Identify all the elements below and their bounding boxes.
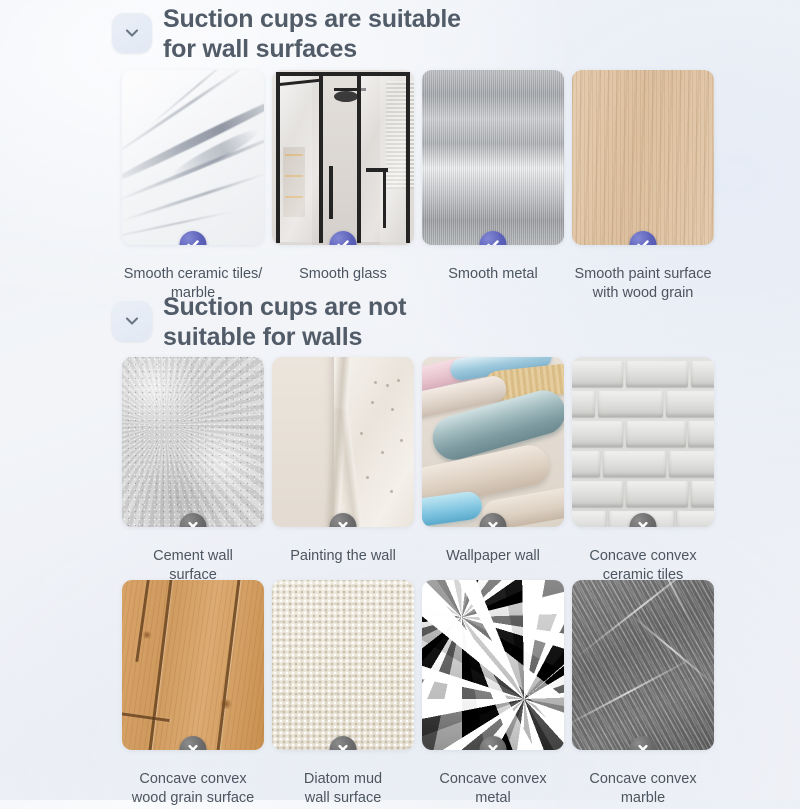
surface-caption: Concave convex wood grain surface	[122, 770, 264, 809]
texture-brushed-metal	[422, 70, 564, 245]
x-icon	[186, 742, 201, 750]
texture-wood-planks	[122, 580, 264, 750]
tile-row-not-suitable-a: Cement wall surface	[122, 357, 714, 586]
texture-light-wood-grain	[572, 70, 714, 245]
surface-cell[interactable]: Smooth paint surface with wood grain	[572, 70, 714, 304]
section-header-suitable: Suction cups are suitable for wall surfa…	[112, 4, 461, 64]
texture-white-marble	[122, 70, 264, 245]
check-icon	[636, 237, 651, 245]
surface-cell[interactable]: Painting the wall	[272, 357, 414, 586]
check-icon	[336, 237, 351, 245]
surface-thumbnail-diatom-mud	[272, 580, 414, 750]
surface-cell[interactable]: Cement wall surface	[122, 357, 264, 586]
surface-caption: Wallpaper wall	[422, 547, 564, 566]
section-header-not-suitable: Suction cups are not suitable for walls	[112, 292, 406, 352]
surface-caption: Concave convex marble	[572, 770, 714, 809]
surface-cell[interactable]: Concave convex marble	[572, 580, 714, 809]
surface-thumbnail-wallpaper	[422, 357, 564, 527]
texture-dark-slate	[572, 580, 714, 750]
surface-thumbnail-dark-marble	[572, 580, 714, 750]
surface-thumbnail-cement	[122, 357, 264, 527]
surface-caption: Smooth glass	[272, 265, 414, 284]
x-icon	[636, 519, 651, 527]
texture-hammered-metal	[422, 580, 564, 750]
texture-wallpaper-rolls	[422, 357, 564, 527]
infographic-page: Suction cups are suitable for wall surfa…	[0, 0, 800, 800]
x-icon	[486, 519, 501, 527]
surface-thumbnail-metal	[422, 70, 564, 245]
collapse-toggle-not-suitable[interactable]	[112, 301, 152, 341]
chevron-down-icon	[122, 23, 142, 43]
x-icon	[636, 742, 651, 750]
surface-thumbnail-glass	[272, 70, 414, 245]
surface-cell[interactable]: Wallpaper wall	[422, 357, 564, 586]
texture-painted-plaster	[272, 357, 414, 527]
surface-thumbnail-wood-planks	[122, 580, 264, 750]
surface-caption: Smooth paint surface with wood grain	[572, 265, 714, 304]
surface-thumbnail-hammered-metal	[422, 580, 564, 750]
surface-caption: Smooth metal	[422, 265, 564, 284]
check-icon	[486, 237, 501, 245]
x-icon	[186, 519, 201, 527]
x-icon	[336, 742, 351, 750]
collapse-toggle-suitable[interactable]	[112, 13, 152, 53]
surface-caption: Concave convex metal	[422, 770, 564, 809]
surface-caption: Diatom mud wall surface	[272, 770, 414, 809]
texture-cement	[122, 357, 264, 527]
surface-cell[interactable]: Diatom mud wall surface	[272, 580, 414, 809]
surface-thumbnail-brick	[572, 357, 714, 527]
surface-cell[interactable]: Smooth ceramic tiles/ marble	[122, 70, 264, 304]
surface-caption: Painting the wall	[272, 547, 414, 566]
surface-cell[interactable]: Concave convex metal	[422, 580, 564, 809]
surface-cell[interactable]: Smooth metal	[422, 70, 564, 304]
x-icon	[486, 742, 501, 750]
texture-white-brick	[572, 357, 714, 527]
surface-thumbnail-marble	[122, 70, 264, 245]
surface-cell[interactable]: Concave convex ceramic tiles	[572, 357, 714, 586]
section-title-not-suitable: Suction cups are not suitable for walls	[163, 292, 406, 352]
tile-row-not-suitable-b: Concave convex wood grain surface Diatom…	[122, 580, 714, 809]
texture-glass-shower-enclosure	[272, 70, 414, 245]
tile-row-suitable: Smooth ceramic tiles/ marble	[122, 70, 714, 304]
surface-cell[interactable]: Concave convex wood grain surface	[122, 580, 264, 809]
chevron-down-icon	[122, 311, 142, 331]
check-icon	[186, 237, 201, 245]
surface-thumbnail-wood-grain	[572, 70, 714, 245]
section-title-suitable: Suction cups are suitable for wall surfa…	[163, 4, 461, 64]
surface-thumbnail-painted-wall	[272, 357, 414, 527]
x-icon	[336, 519, 351, 527]
texture-diatom-mud	[272, 580, 414, 750]
surface-cell[interactable]: Smooth glass	[272, 70, 414, 304]
